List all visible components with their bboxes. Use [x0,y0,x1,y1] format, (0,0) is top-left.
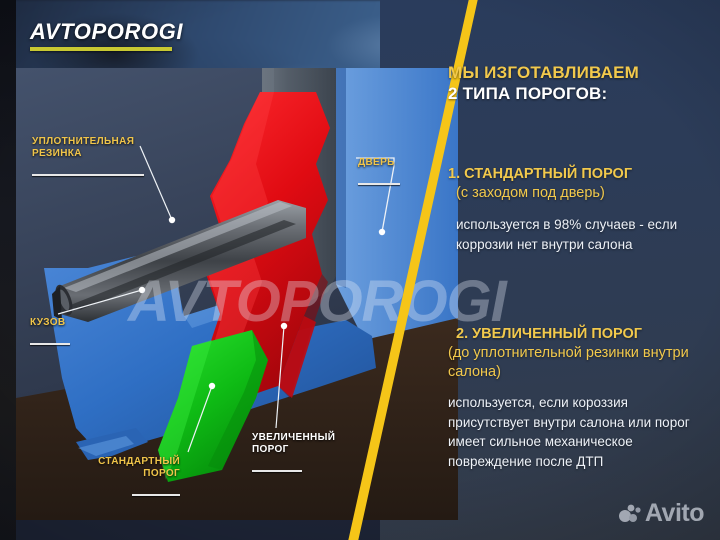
section-2: 2. УВЕЛИЧЕННЫЙ ПОРОГ (до уплотнительной … [448,325,710,471]
section-1-body: используется в 98% случаев - если корроз… [448,215,710,254]
brand-logo: AVTOPOROGI [30,21,183,51]
avito-wordmark: Avito [645,501,704,526]
brand-logo-underline [30,47,172,51]
callout-text-door: ДВЕРЬ [358,157,404,169]
section-1: 1. СТАНДАРТНЫЙ ПОРОГ (с заходом под двер… [448,165,710,254]
callout-label-seal: УПЛОТНИТЕЛЬНАЯ РЕЗИНКА [32,124,152,188]
callout-text-extended: УВЕЛИЧЕННЫЙ ПОРОГ [252,432,352,456]
callout-label-body: КУЗОВ [30,305,74,357]
callout-text-standard: СТАНДАРТНЫЙ ПОРОГ [84,456,180,480]
promo-image-canvas: AVTOPOROGI [0,0,720,540]
section-2-subtitle: (до уплотнительной резинки внутри салона… [448,344,710,382]
callout-label-extended: УВЕЛИЧЕННЫЙ ПОРОГ [252,420,352,484]
callout-underline-door [358,183,400,185]
brand-logo-text: AVTOPOROGI [30,21,183,43]
section-2-body: используется, если короззия присутствует… [448,393,710,471]
callout-underline-body [30,343,70,345]
callout-underline-standard [132,494,180,496]
heading-line-1: МЫ ИЗГОТАВЛИВАЕМ [448,62,710,83]
section-1-title: 1. СТАНДАРТНЫЙ ПОРОГ [448,165,710,184]
main-heading: МЫ ИЗГОТАВЛИВАЕМ 2 ТИПА ПОРОГОВ: [448,62,710,104]
callout-text-body: КУЗОВ [30,317,74,329]
section-1-subtitle: (с заходом под дверь) [448,184,710,203]
avito-watermark: Avito [618,501,704,526]
avito-dots-icon [618,502,642,526]
callout-label-door: ДВЕРЬ [358,145,404,197]
callout-text-seal: УПЛОТНИТЕЛЬНАЯ РЕЗИНКА [32,136,152,160]
section-2-title: 2. УВЕЛИЧЕННЫЙ ПОРОГ [448,325,710,344]
callout-underline-extended [252,470,302,472]
heading-line-2: 2 ТИПА ПОРОГОВ: [448,83,710,104]
callout-underline-seal [32,174,144,176]
callout-label-standard: СТАНДАРТНЫЙ ПОРОГ [84,444,180,508]
